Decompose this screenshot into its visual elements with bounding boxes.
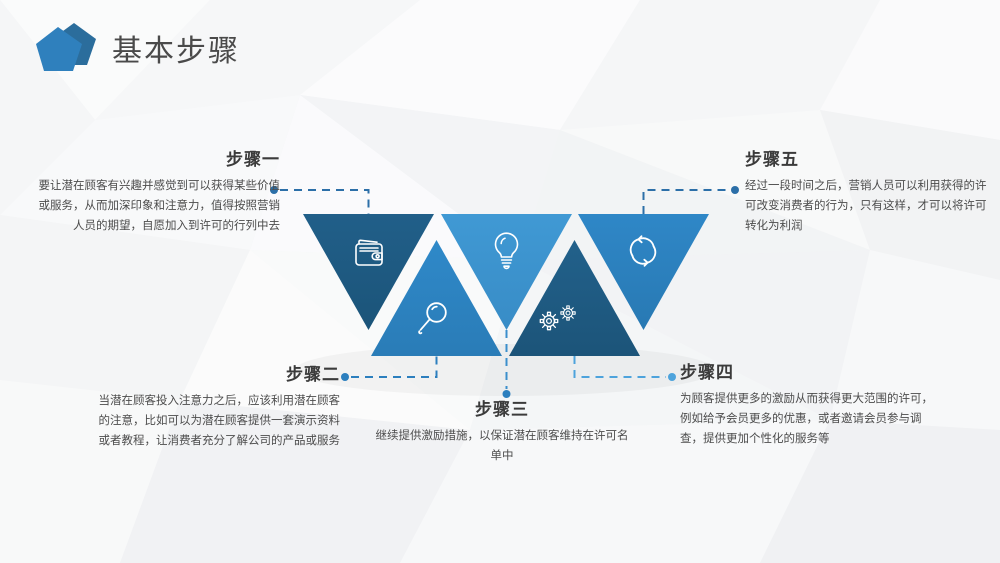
step-1-block: 步骤一 要让潜在顾客有兴趣并感觉到可以获得某些价值或服务，从而加深印象和注意力，… <box>34 150 280 237</box>
step-1-title: 步骤一 <box>34 150 280 170</box>
connector-lines <box>0 0 1000 563</box>
step-5-body: 经过一段时间之后，营销人员可以利用获得的许可改变消费者的行为，只有这样，才可以将… <box>745 177 995 236</box>
step-3-title: 步骤三 <box>375 400 629 420</box>
step-5-title: 步骤五 <box>745 150 995 170</box>
connector-step-2 <box>341 356 437 381</box>
step-5-block: 步骤五 经过一段时间之后，营销人员可以利用获得的许可改变消费者的行为，只有这样，… <box>745 150 995 237</box>
step-2-body: 当潜在顾客投入注意力之后，应该利用潜在顾客的注意，比如可以为潜在顾客提供一套演示… <box>98 392 340 451</box>
step-4-title: 步骤四 <box>680 363 935 383</box>
step-2-block: 步骤二 当潜在顾客投入注意力之后，应该利用潜在顾客的注意，比如可以为潜在顾客提供… <box>98 365 340 452</box>
connector-step-4 <box>575 356 677 381</box>
connector-step-5 <box>644 186 740 214</box>
step-4-block: 步骤四 为顾客提供更多的激励从而获得更大范围的许可，例如给予会员更多的优惠，或者… <box>680 363 935 450</box>
slide-canvas: 基本步骤 <box>0 0 1000 563</box>
step-3-body: 继续提供激励措施，以保证潜在顾客维持在许可名单中 <box>375 427 629 467</box>
step-4-body: 为顾客提供更多的激励从而获得更大范围的许可，例如给予会员更多的优惠，或者邀请会员… <box>680 390 935 449</box>
step-1-body: 要让潜在顾客有兴趣并感觉到可以获得某些价值或服务，从而加深印象和注意力，值得按照… <box>34 177 280 236</box>
connector-step-1 <box>270 186 369 214</box>
connector-step-3 <box>503 330 511 398</box>
step-2-title: 步骤二 <box>98 365 340 385</box>
step-3-block: 步骤三 继续提供激励措施，以保证潜在顾客维持在许可名单中 <box>375 400 629 467</box>
